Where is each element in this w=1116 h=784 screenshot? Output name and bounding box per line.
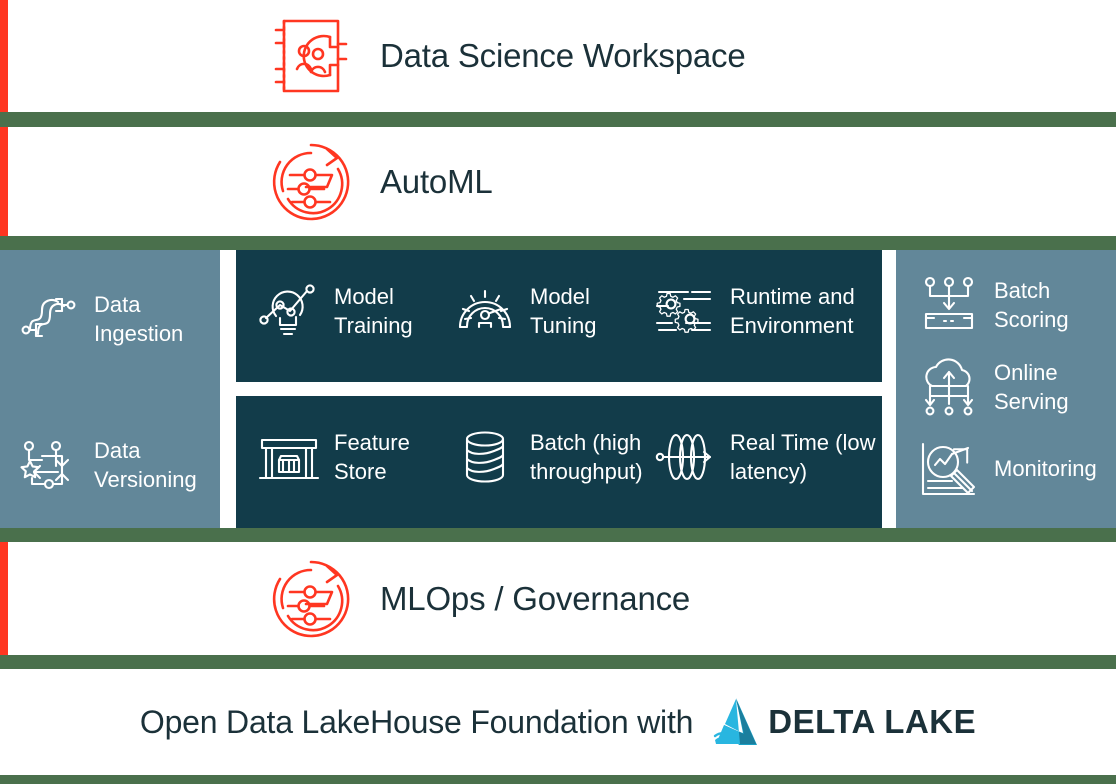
accent-bar-workspace	[0, 0, 8, 112]
mlops-cycle-icon	[268, 556, 354, 642]
cell-label-monitoring: Monitoring	[994, 454, 1097, 483]
cell-real-time-latency[interactable]: Real Time (low latency)	[654, 426, 882, 488]
separator-2	[0, 236, 1116, 250]
lightbulb-network-icon	[258, 280, 320, 342]
cell-label-data-ingestion: Data Ingestion	[94, 290, 214, 348]
waveform-icon	[654, 426, 716, 488]
cell-label-online-serving: Online Serving	[994, 358, 1114, 416]
foundation-label: Open Data LakeHouse Foundation with	[140, 704, 693, 741]
panel-deployment-monitoring: Batch Scoring Online Serving	[896, 250, 1116, 528]
cell-data-versioning[interactable]: Data Versioning	[18, 434, 214, 496]
cell-label-model-training: Model Training	[334, 282, 454, 340]
monitoring-magnifier-icon	[918, 438, 980, 500]
delta-lake-triangle-icon	[713, 696, 759, 748]
separator-1	[0, 112, 1116, 127]
cell-feature-store[interactable]: Feature Store	[258, 426, 454, 488]
gauge-icon	[454, 280, 516, 342]
foundation-row: Open Data LakeHouse Foundation with DELT…	[0, 669, 1116, 775]
cell-data-ingestion[interactable]: Data Ingestion	[18, 288, 214, 350]
band-label-mlops: MLOps / Governance	[380, 580, 690, 618]
cell-label-feature-store: Feature Store	[334, 428, 454, 486]
band-automl: AutoML	[0, 127, 1116, 236]
band-label-automl: AutoML	[380, 163, 493, 201]
cell-label-runtime-environment: Runtime and Environment	[730, 282, 882, 340]
batch-scoring-icon	[918, 274, 980, 336]
separator-3	[0, 528, 1116, 542]
cloud-serving-icon	[918, 356, 980, 418]
band-mlops-governance: MLOps / Governance	[0, 542, 1116, 655]
cell-model-training[interactable]: Model Training	[258, 280, 454, 342]
accent-bar-automl	[0, 127, 8, 236]
cell-label-model-tuning: Model Tuning	[530, 282, 650, 340]
panel-model-development: Model Training	[236, 250, 882, 382]
cell-online-serving[interactable]: Online Serving	[918, 356, 1114, 418]
separator-bottom	[0, 775, 1116, 784]
delta-lake-wordmark: DELTA LAKE	[768, 703, 976, 741]
accent-bar-mlops	[0, 542, 8, 655]
storefront-icon	[258, 426, 320, 488]
ml-platform-architecture-diagram: Data Science Workspace	[0, 0, 1116, 784]
cell-label-data-versioning: Data Versioning	[94, 436, 214, 494]
automl-cycle-icon	[268, 139, 354, 225]
panel-feature-serving: Feature Store Batch (high throughput)	[236, 396, 882, 528]
band-data-science-workspace: Data Science Workspace	[0, 0, 1116, 112]
data-ingestion-icon	[18, 288, 80, 350]
cell-label-batch-scoring: Batch Scoring	[994, 276, 1114, 334]
cell-runtime-environment[interactable]: Runtime and Environment	[654, 280, 882, 342]
data-science-workspace-icon	[268, 13, 354, 99]
gears-icon	[654, 280, 716, 342]
data-versioning-icon	[18, 434, 80, 496]
cell-batch-scoring[interactable]: Batch Scoring	[918, 274, 1114, 336]
cell-label-real-time-latency: Real Time (low latency)	[730, 428, 882, 486]
band-label-workspace: Data Science Workspace	[380, 37, 746, 75]
delta-lake-logo: DELTA LAKE	[713, 696, 976, 748]
separator-4	[0, 655, 1116, 669]
cell-model-tuning[interactable]: Model Tuning	[454, 280, 650, 342]
cell-monitoring[interactable]: Monitoring	[918, 438, 1097, 500]
database-icon	[454, 426, 516, 488]
panel-data-management: Data Ingestion	[0, 250, 220, 528]
